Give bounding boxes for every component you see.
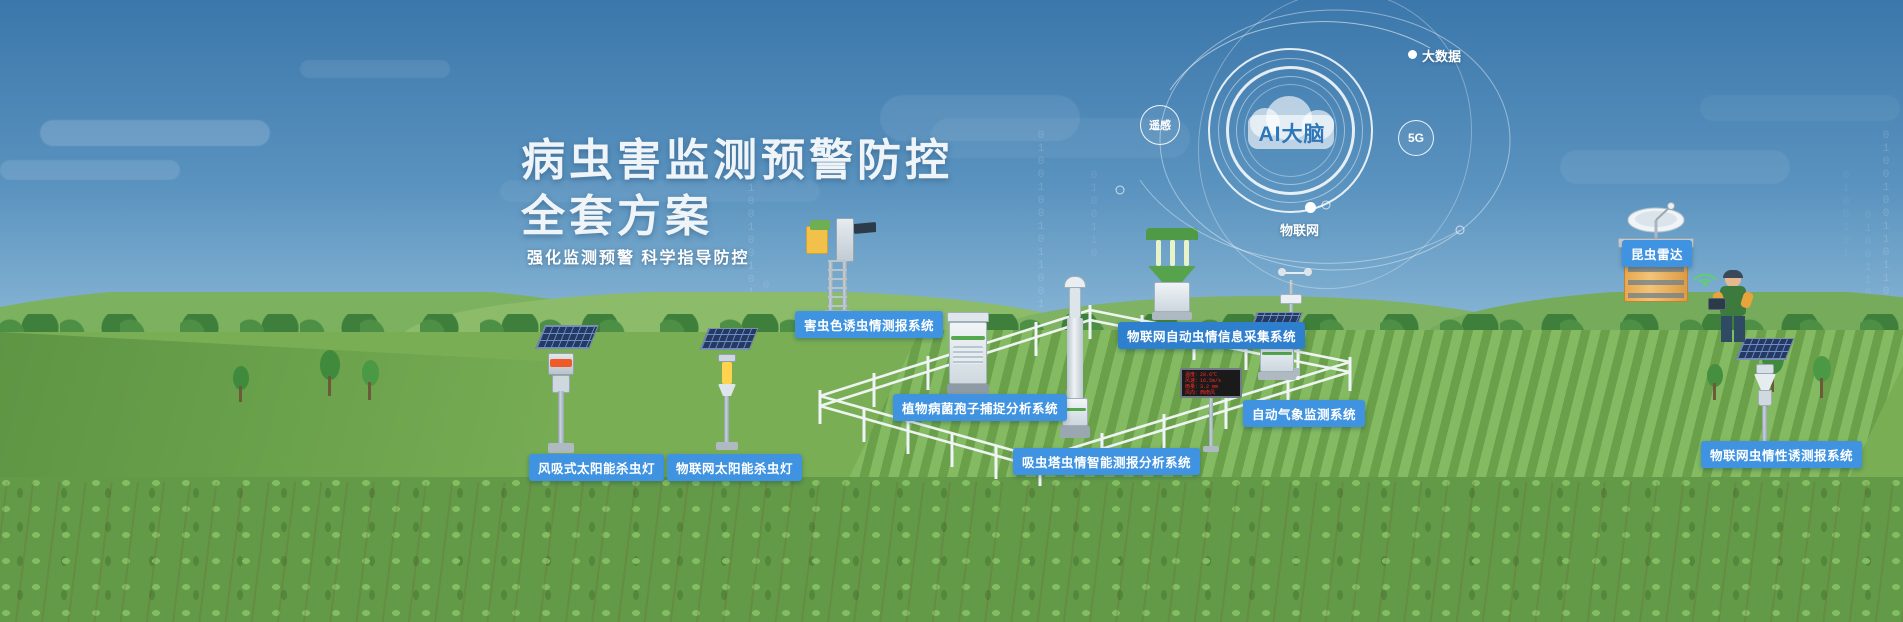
node-iot-dot — [1305, 202, 1316, 213]
node-iot-label: 物联网 — [1280, 220, 1319, 239]
node-5g[interactable]: 5G — [1398, 120, 1434, 156]
tree — [1706, 364, 1724, 400]
trap-funnel — [1754, 374, 1776, 390]
cabinet-vent — [953, 346, 983, 364]
tree — [318, 350, 342, 396]
control-cabinet — [1154, 282, 1190, 312]
page-title: 病虫害监测预警防控 全套方案 — [521, 133, 953, 245]
trap-head — [1756, 364, 1774, 374]
cabinet-green-stripe — [951, 336, 985, 340]
title-line-2: 全套方案 — [521, 189, 953, 245]
wifi-signal-icon — [1692, 262, 1720, 286]
label-suction-tower[interactable]: 吸虫塔虫情智能测报分析系统 — [1013, 448, 1200, 475]
label-color-lure-forecast[interactable]: 害虫色诱虫情测报系统 — [795, 311, 943, 338]
lamp-head — [718, 354, 736, 362]
node-remote-sensing[interactable]: 遥感 — [1140, 105, 1180, 145]
cloud-shape — [300, 60, 450, 78]
ai-brain-cluster: AI大脑 遥感 5G 大数据 物联网 — [1130, 30, 1530, 260]
device-spore-capture[interactable] — [947, 312, 993, 398]
led-line-4: 风向：西南风 — [1185, 390, 1237, 396]
solution-banner: 0100100101 0100101 010010010110011010 01… — [0, 0, 1903, 622]
device-iot-solar-lamp[interactable] — [700, 328, 756, 450]
lamp-pole — [558, 391, 564, 445]
lamp-base — [716, 442, 738, 450]
page-subtitle: 强化监测预警 科学指导防控 — [527, 244, 749, 268]
ai-brain-label: AI大脑 — [1249, 118, 1335, 148]
binary-stream: 0100110 — [1088, 170, 1100, 261]
cabinet-top — [947, 312, 989, 322]
label-iot-pest-collection[interactable]: 物联网自动虫情信息采集系统 — [1118, 322, 1305, 349]
solar-panel — [700, 328, 759, 350]
crop-rows-foreground — [0, 482, 1903, 622]
label-iot-solar-lamp[interactable]: 物联网太阳能杀虫灯 — [667, 454, 802, 481]
cloud-shape — [1700, 95, 1900, 121]
tree — [360, 360, 380, 400]
sensor-pod — [1280, 294, 1302, 304]
lamp-light — [550, 359, 572, 367]
display-pole — [1209, 398, 1213, 448]
binary-stream: 0100101 — [1840, 170, 1852, 261]
tower-throat — [1069, 288, 1081, 318]
cloud-shape — [40, 120, 270, 146]
tree — [232, 366, 250, 402]
node-remote-sensing-label: 遥感 — [1149, 117, 1171, 133]
cabinet-base — [1258, 372, 1296, 380]
lamp-pole — [724, 396, 729, 444]
label-spore-capture[interactable]: 植物病菌孢子捕捉分析系统 — [893, 394, 1067, 421]
anemometer — [1280, 268, 1310, 282]
cabinet-green-stripe — [1262, 352, 1292, 355]
tower-cap — [1064, 276, 1086, 288]
display-base — [1203, 446, 1219, 452]
device-wind-suction-solar-lamp[interactable] — [534, 325, 594, 455]
collection-jar — [1758, 390, 1772, 406]
label-weather-station[interactable]: 自动气象监测系统 — [1243, 400, 1365, 427]
tower-base — [1060, 426, 1090, 438]
node-big-data-dot — [1408, 50, 1417, 59]
node-5g-label: 5G — [1408, 131, 1424, 145]
collector-funnel — [1148, 266, 1196, 282]
cabinet-base — [1152, 312, 1192, 320]
cabinet-base — [947, 384, 989, 394]
tower-green-stripe — [1064, 408, 1086, 411]
funnel — [718, 384, 736, 396]
node-big-data-label: 大数据 — [1422, 46, 1461, 65]
device-suction-tower[interactable] — [1058, 276, 1094, 452]
cloud-shape — [1560, 150, 1790, 184]
title-line-1: 病虫害监测预警防控 — [521, 133, 953, 189]
tower-ladder-rungs — [828, 260, 847, 312]
device-led-display[interactable]: 温度：29.6℃ 风速：16.5m/s 雨量：3.2 mm 风向：西南风 — [1180, 368, 1244, 452]
lamp-tube — [722, 362, 732, 384]
tree — [1812, 356, 1832, 398]
cloud-shape — [0, 160, 180, 180]
label-pheromone-forecast[interactable]: 物联网虫情性诱测报系统 — [1701, 441, 1862, 468]
lamp-base — [548, 443, 574, 453]
label-insect-radar[interactable]: 昆虫雷达 — [1622, 240, 1692, 267]
led-board: 温度：29.6℃ 风速：16.5m/s 雨量：3.2 mm 风向：西南风 — [1180, 368, 1242, 398]
label-wind-suction-solar-lamp[interactable]: 风吸式太阳能杀虫灯 — [529, 454, 664, 481]
solar-panel — [535, 325, 599, 349]
